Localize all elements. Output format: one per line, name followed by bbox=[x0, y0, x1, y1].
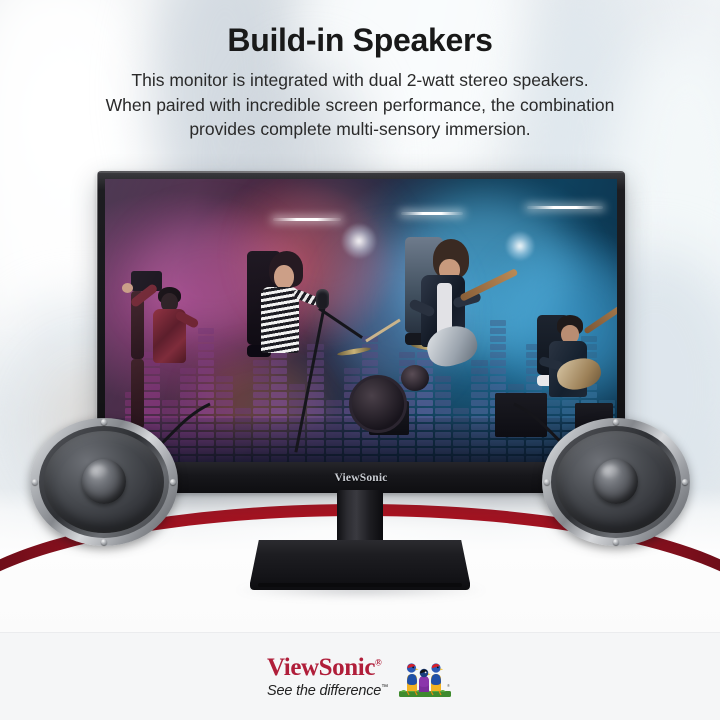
svg-text:®: ® bbox=[447, 683, 450, 688]
speaker-screw bbox=[682, 479, 688, 485]
description-line-1: This monitor is integrated with dual 2-w… bbox=[0, 68, 720, 93]
brand-tagline-text: See the difference bbox=[267, 683, 381, 699]
viewsonic-wordmark: ViewSonic® See the difference™ bbox=[267, 655, 388, 699]
gouldian-finch-logo-icon: ® bbox=[397, 655, 453, 699]
speaker-screw bbox=[544, 479, 550, 485]
bass-drum bbox=[349, 375, 407, 433]
speaker-screw bbox=[613, 419, 619, 425]
equalizer-segment bbox=[362, 352, 378, 358]
brand-tagline: See the difference™ bbox=[267, 683, 388, 699]
speaker-screw bbox=[101, 539, 107, 545]
equalizer-segment bbox=[362, 368, 378, 374]
footer-bar: ViewSonic® See the difference™ bbox=[0, 632, 720, 720]
left-speaker bbox=[30, 418, 178, 546]
description-line-3: provides complete multi-sensory immersio… bbox=[0, 117, 720, 142]
page-title: Build-in Speakers bbox=[0, 22, 720, 59]
equalizer-segment bbox=[362, 360, 378, 366]
stage-light-bar bbox=[401, 212, 463, 215]
finch-right bbox=[431, 663, 443, 695]
description-line-2: When paired with incredible screen perfo… bbox=[0, 93, 720, 118]
trademark-mark: ™ bbox=[381, 684, 388, 691]
registered-mark: ® bbox=[375, 658, 381, 668]
stage-light-bar bbox=[273, 218, 341, 221]
monitor-stand-base bbox=[250, 540, 470, 590]
finch-middle bbox=[419, 669, 431, 692]
speaker-screw bbox=[101, 419, 107, 425]
page-description: This monitor is integrated with dual 2-w… bbox=[0, 68, 720, 142]
equalizer-segment bbox=[344, 376, 360, 382]
equalizer-segment bbox=[344, 368, 360, 374]
speaker-dust-cap bbox=[82, 459, 126, 504]
brand-name: ViewSonic® bbox=[267, 655, 381, 680]
right-speaker bbox=[542, 418, 690, 546]
speaker-screw bbox=[613, 539, 619, 545]
speaker-dust-cap bbox=[594, 459, 638, 504]
brand-name-text: ViewSonic bbox=[267, 654, 375, 681]
microphone-icon bbox=[316, 289, 329, 309]
equalizer-segment bbox=[216, 384, 232, 390]
speaker-screw bbox=[170, 479, 176, 485]
stage-light-bar bbox=[527, 206, 603, 209]
monitor-brand-logo: ViewSonic bbox=[334, 472, 387, 484]
product-banner: Build-in Speakers This monitor is integr… bbox=[0, 0, 720, 720]
finch-left bbox=[407, 663, 419, 695]
speaker-screw bbox=[32, 479, 38, 485]
footer-logo-lockup: ViewSonic® See the difference™ bbox=[0, 633, 720, 720]
performer-vocalist bbox=[247, 251, 343, 462]
equalizer-segment bbox=[216, 376, 232, 382]
